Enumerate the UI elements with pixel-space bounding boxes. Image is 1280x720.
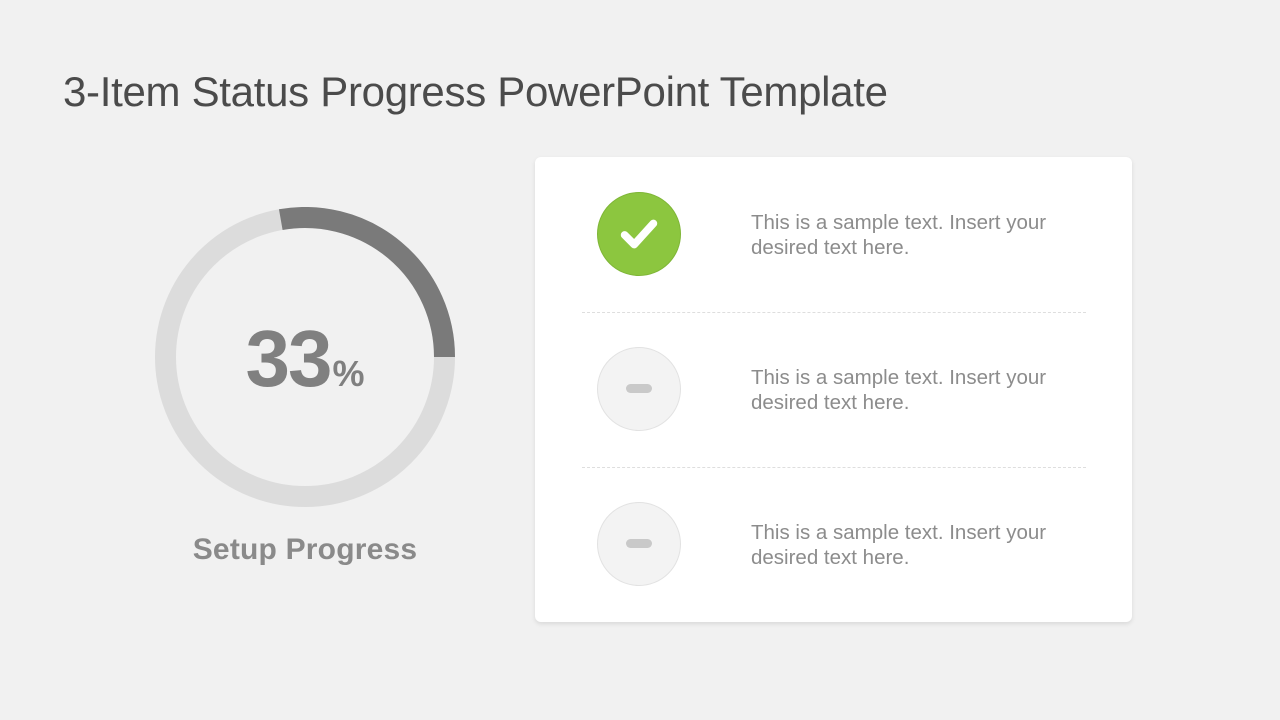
dash-icon xyxy=(626,384,652,393)
status-icon-slot xyxy=(597,347,683,433)
page-title: 3-Item Status Progress PowerPoint Templa… xyxy=(63,68,888,116)
status-icon-slot xyxy=(597,502,683,588)
status-list-item[interactable]: This is a sample text. Insert your desir… xyxy=(535,157,1132,312)
status-item-text: This is a sample text. Insert your desir… xyxy=(751,365,1071,415)
status-icon-completed[interactable] xyxy=(597,192,681,276)
slide-canvas: 3-Item Status Progress PowerPoint Templa… xyxy=(0,0,1280,720)
status-card: This is a sample text. Insert your desir… xyxy=(535,157,1132,622)
dash-icon xyxy=(626,539,652,548)
check-icon xyxy=(616,211,662,257)
gauge-caption: Setup Progress xyxy=(105,533,505,567)
progress-gauge: 33 % xyxy=(155,207,455,507)
status-icon-pending[interactable] xyxy=(597,502,681,586)
status-item-text: This is a sample text. Insert your desir… xyxy=(751,520,1071,570)
status-list-item[interactable]: This is a sample text. Insert your desir… xyxy=(535,312,1132,467)
gauge-progress-arc xyxy=(281,218,445,358)
status-item-text: This is a sample text. Insert your desir… xyxy=(751,210,1071,260)
status-icon-slot xyxy=(597,192,683,278)
progress-ring xyxy=(155,207,455,507)
status-icon-pending[interactable] xyxy=(597,347,681,431)
status-list-item[interactable]: This is a sample text. Insert your desir… xyxy=(535,467,1132,622)
